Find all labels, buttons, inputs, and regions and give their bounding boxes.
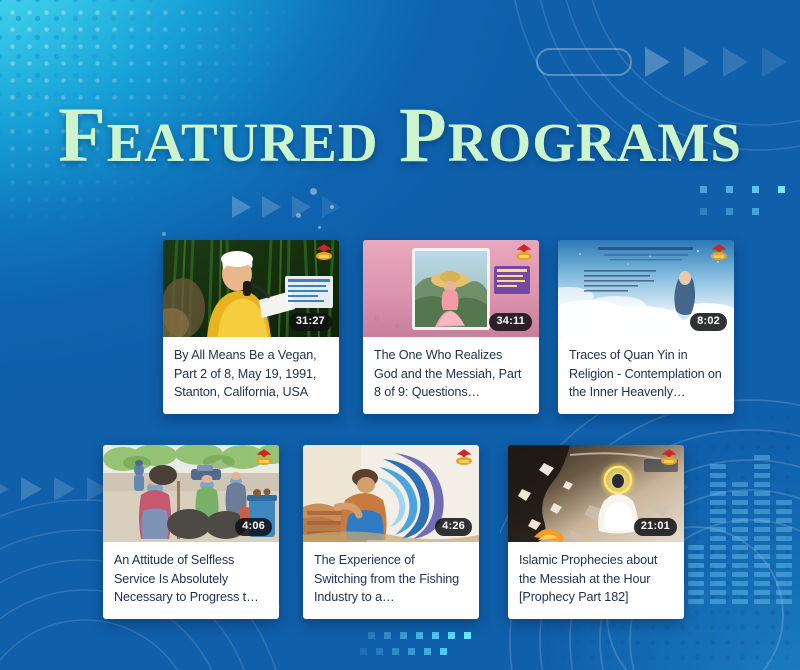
duration-badge: 34:11 (489, 313, 532, 331)
play-triangle-icon (232, 196, 251, 218)
play-triangle-icon (262, 196, 281, 218)
pill-outline-icon (536, 48, 632, 76)
supreme-master-tv-logo-icon (314, 243, 334, 261)
decorative-dot (162, 232, 166, 236)
play-triangles-top-right (645, 47, 787, 77)
program-title: The One Who Realizes God and the Messiah… (363, 337, 539, 414)
supreme-master-tv-logo-icon (514, 243, 534, 261)
program-card[interactable]: 34:11 The One Who Realizes God and the M… (363, 240, 539, 414)
program-title: Traces of Quan Yin in Religion - Contemp… (558, 337, 734, 414)
play-triangles-mid-left (232, 196, 341, 218)
page-title: Featured Programs (0, 96, 800, 174)
square-dots-right-icon (700, 186, 800, 230)
play-triangles-bottom-left (0, 477, 108, 501)
supreme-master-tv-logo-icon (454, 448, 474, 466)
decorative-dot (318, 226, 321, 229)
play-triangle-icon (322, 196, 341, 218)
program-card[interactable]: 8:02 Traces of Quan Yin in Religion - Co… (558, 240, 734, 414)
play-triangle-icon (0, 477, 9, 501)
play-triangle-icon (54, 477, 75, 501)
program-card[interactable]: 31:27 By All Means Be a Vegan, Part 2 of… (163, 240, 339, 414)
decorative-dot (310, 188, 317, 195)
play-triangle-icon (21, 477, 42, 501)
equalizer-bars-icon (688, 455, 792, 604)
program-thumbnail[interactable]: 34:11 (363, 240, 539, 337)
supreme-master-tv-logo-icon (659, 448, 679, 466)
program-title: An Attitude of Selfless Service Is Absol… (103, 542, 279, 619)
program-title: By All Means Be a Vegan, Part 2 of 8, Ma… (163, 337, 339, 414)
supreme-master-tv-logo-icon (254, 448, 274, 466)
play-triangle-icon (684, 47, 709, 77)
square-dots-bottom-icon (368, 632, 480, 664)
program-thumbnail[interactable]: 21:01 (508, 445, 684, 542)
duration-badge: 21:01 (634, 518, 677, 536)
program-thumbnail[interactable]: 4:26 (303, 445, 479, 542)
duration-badge: 4:06 (235, 518, 272, 536)
program-card[interactable]: 21:01 Islamic Prophecies about the Messi… (508, 445, 684, 619)
program-title: Islamic Prophecies about the Messiah at … (508, 542, 684, 619)
program-thumbnail[interactable]: 8:02 (558, 240, 734, 337)
program-thumbnail[interactable]: 31:27 (163, 240, 339, 337)
play-triangle-icon (645, 47, 670, 77)
program-title: The Experience of Switching from the Fis… (303, 542, 479, 619)
play-triangle-icon (723, 47, 748, 77)
duration-badge: 31:27 (289, 313, 332, 331)
duration-badge: 8:02 (690, 313, 727, 331)
duration-badge: 4:26 (435, 518, 472, 536)
program-card[interactable]: 4:06 An Attitude of Selfless Service Is … (103, 445, 279, 619)
play-triangle-icon (762, 47, 787, 77)
supreme-master-tv-logo-icon (709, 243, 729, 261)
program-card[interactable]: 4:26 The Experience of Switching from th… (303, 445, 479, 619)
play-triangle-icon (292, 196, 311, 218)
featured-programs-banner: Featured Programs (0, 0, 800, 670)
program-thumbnail[interactable]: 4:06 (103, 445, 279, 542)
